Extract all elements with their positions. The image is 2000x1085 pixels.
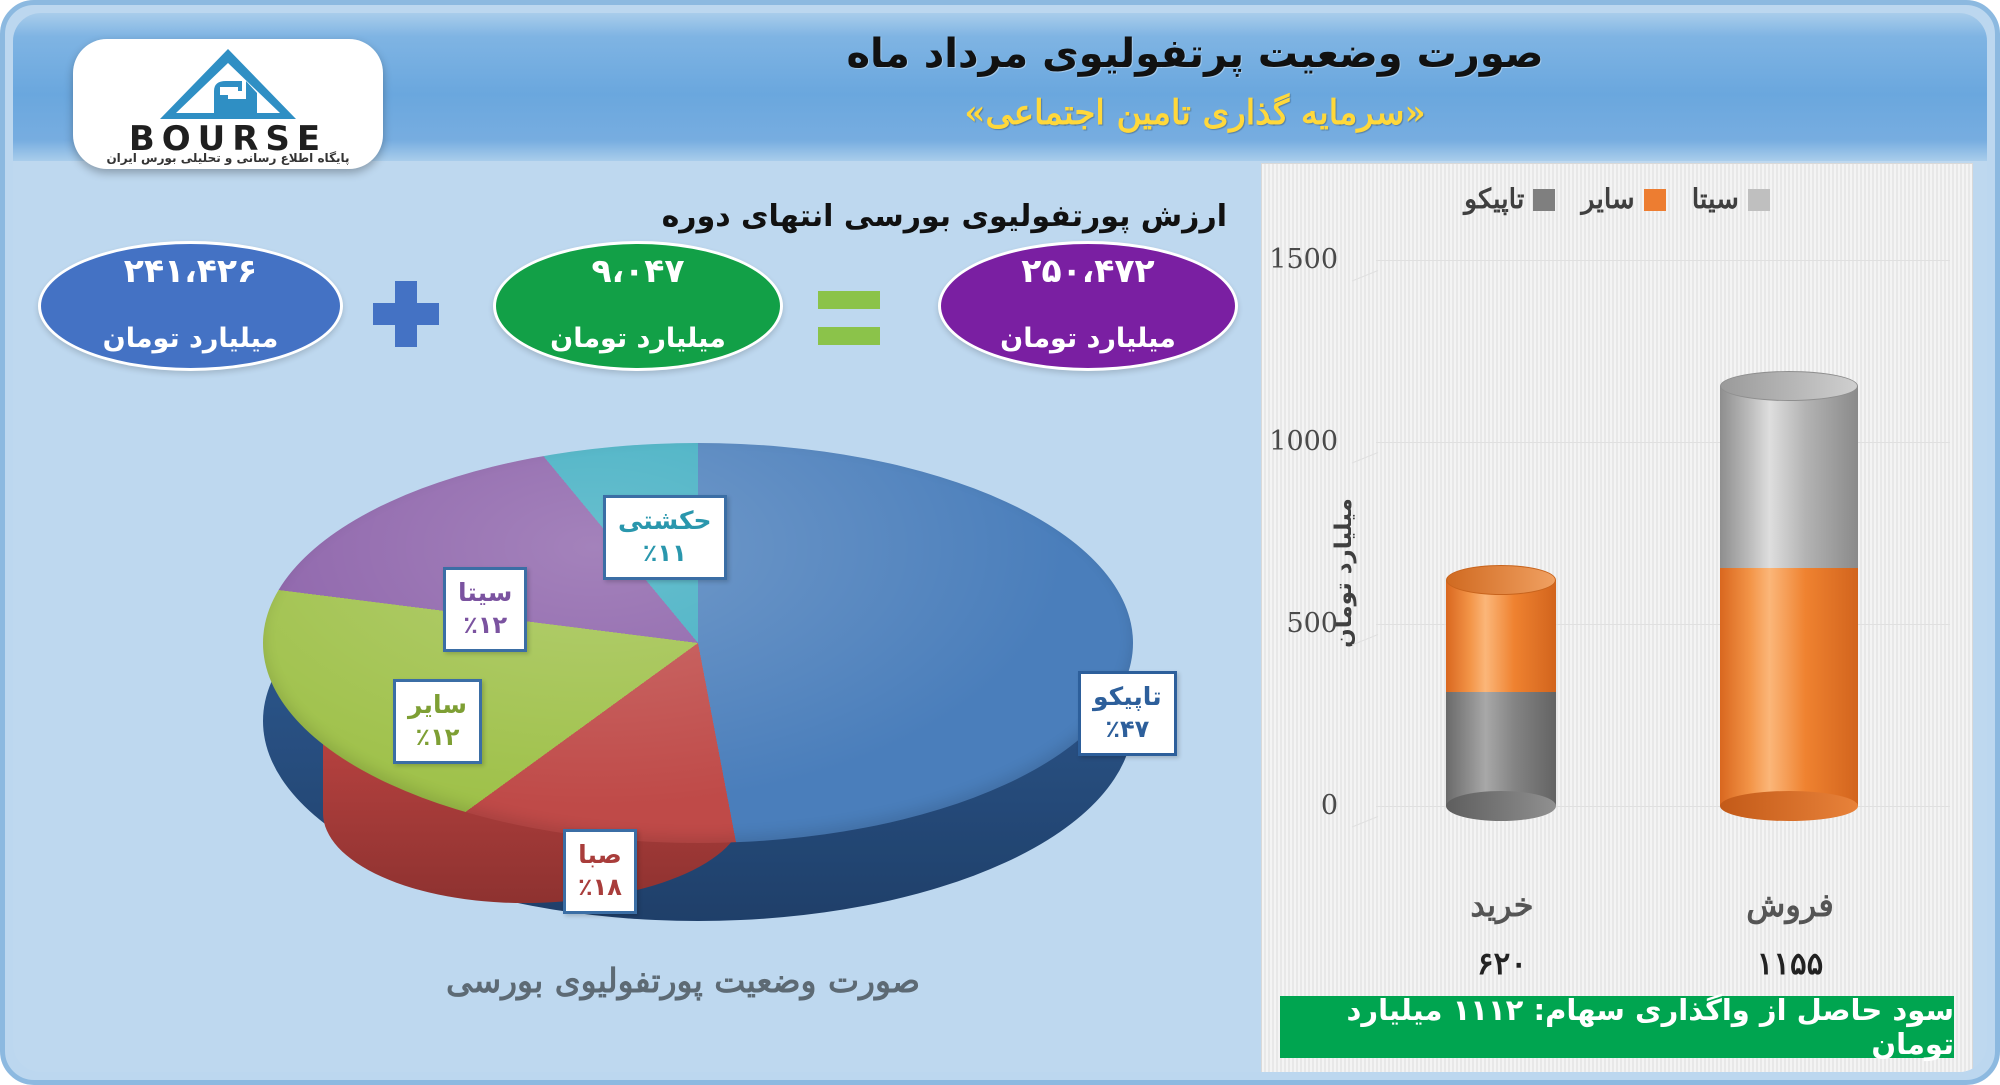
pie-label-sita-pct: ٪۱۲ (458, 610, 512, 640)
pie-label-saba: صبا ٪۱۸ (563, 829, 637, 914)
kpi-unit-end: میلیارد تومان (941, 325, 1235, 352)
pie-label-hakashti-name: حکشتی (618, 506, 712, 535)
plus-icon (373, 281, 439, 347)
x-tick-foroosh-name: فروش (1700, 886, 1880, 924)
pie-label-sayer: سایر ٪۱۲ (393, 679, 482, 764)
pie-label-tapico-name: تاپیکو (1093, 682, 1162, 711)
bar-foroosh-segment-sita (1720, 386, 1858, 568)
x-tick-kharid-value: ۶۲۰ (1412, 946, 1592, 982)
legend-swatch-sayer (1644, 189, 1666, 211)
kpi-ellipse-start: ۲۴۱،۴۲۶ میلیارد تومان (38, 241, 343, 371)
x-tick-kharid-name: خرید (1412, 886, 1592, 924)
chart-legend: سیتا سایر تاپیکو (1262, 184, 1972, 215)
pie-label-sayer-pct: ٪۱۲ (408, 722, 467, 752)
brand-logo: BOURSE پایگاه اطلاع رسانی و تحلیلی بورس … (73, 39, 383, 169)
y-tick-1000: 1000 (1218, 426, 1338, 457)
kpi-ellipse-change: ۹،۰۴۷ میلیارد تومان (493, 241, 783, 371)
pie-label-hakashti: حکشتی ٪۱۱ (603, 495, 727, 580)
y-tick-1500: 1500 (1218, 244, 1338, 275)
pie-label-saba-pct: ٪۱۸ (578, 872, 622, 902)
kpi-unit-start: میلیارد تومان (41, 325, 340, 352)
x-tick-kharid: خرید ۶۲۰ (1412, 886, 1592, 982)
kpi-unit-change: میلیارد تومان (496, 325, 780, 352)
x-tick-foroosh-value: ۱۱۵۵ (1700, 946, 1880, 982)
kpi-value-start: ۲۴۱،۴۲۶ (41, 254, 340, 287)
poster-root: صورت وضعیت پرتفولیوی مرداد ماه «سرمایه گ… (0, 0, 2000, 1085)
logo-tagline: پایگاه اطلاع رسانی و تحلیلی بورس ایران (73, 151, 383, 165)
profit-footer-banner: سود حاصل از واگذاری سهام: ۱۱۱۲ میلیارد ت… (1280, 996, 1954, 1058)
bar-chart-plot: میلیارد تومان 1500 1000 500 0 (1350, 260, 1950, 878)
legend-item-tapico: تاپیکو (1464, 184, 1555, 215)
kpi-value-change: ۹،۰۴۷ (496, 254, 780, 287)
legend-swatch-sita (1748, 189, 1770, 211)
kpi-ellipse-end: ۲۵۰،۴۷۲ میلیارد تومان (938, 241, 1238, 371)
pie-label-sayer-name: سایر (408, 690, 467, 719)
page-title: صورت وضعیت پرتفولیوی مرداد ماه (403, 31, 1987, 77)
bar-kharid-segment-tapico (1446, 692, 1556, 806)
pie-label-tapico-pct: ٪۴۷ (1093, 714, 1162, 744)
pie-label-sita: سیتا ٪۱۲ (443, 567, 527, 652)
x-tick-foroosh: فروش ۱۱۵۵ (1700, 886, 1880, 982)
poster-inner: صورت وضعیت پرتفولیوی مرداد ماه «سرمایه گ… (13, 13, 1987, 1072)
pie-label-hakashti-pct: ٪۱۱ (618, 538, 712, 568)
bar-foroosh (1720, 386, 1858, 806)
legend-item-sita: سیتا (1692, 184, 1770, 215)
kpi-label-end: ارزش پورتفولیوی بورسی انتهای دوره (662, 199, 1227, 234)
bar-kharid (1446, 580, 1556, 806)
page-subtitle: «سرمایه گذاری تامین اجتماعی» (403, 93, 1987, 133)
pie-label-saba-name: صبا (578, 840, 622, 869)
pie-chart: تاپیکو ٪۴۷ صبا ٪۱۸ سایر ٪۱۲ سیتا ٪۱۲ حکش… (263, 443, 1133, 933)
equals-icon (818, 291, 880, 345)
legend-label-sayer: سایر (1581, 184, 1634, 215)
pie-label-sita-name: سیتا (458, 578, 512, 607)
pie-label-tapico: تاپیکو ٪۴۷ (1078, 671, 1177, 756)
bar-kharid-segment-sayer (1446, 580, 1556, 692)
gridline-1500 (1376, 260, 1950, 261)
pie-chart-area: تاپیکو ٪۴۷ صبا ٪۱۸ سایر ٪۱۲ سیتا ٪۱۲ حکش… (143, 433, 1223, 1072)
legend-label-sita: سیتا (1692, 184, 1739, 215)
bar-foroosh-segment-sayer (1720, 568, 1858, 806)
bar-chart-panel: سیتا سایر تاپیکو میلیارد تومان 1500 (1261, 163, 1973, 1072)
gridline-1000 (1376, 442, 1950, 443)
y-tick-500: 500 (1218, 608, 1338, 639)
kpi-value-end: ۲۵۰،۴۷۲ (941, 254, 1235, 287)
bourse-triangle-icon (158, 47, 298, 121)
legend-swatch-tapico (1533, 189, 1555, 211)
legend-item-sayer: سایر (1581, 184, 1665, 215)
pie-caption: صورت وضعیت پورتفولیوی بورسی (143, 961, 1223, 1000)
profit-footer-text: سود حاصل از واگذاری سهام: ۱۱۱۲ میلیارد ت… (1280, 993, 1954, 1061)
y-tick-0: 0 (1218, 790, 1338, 821)
legend-label-tapico: تاپیکو (1464, 184, 1524, 215)
